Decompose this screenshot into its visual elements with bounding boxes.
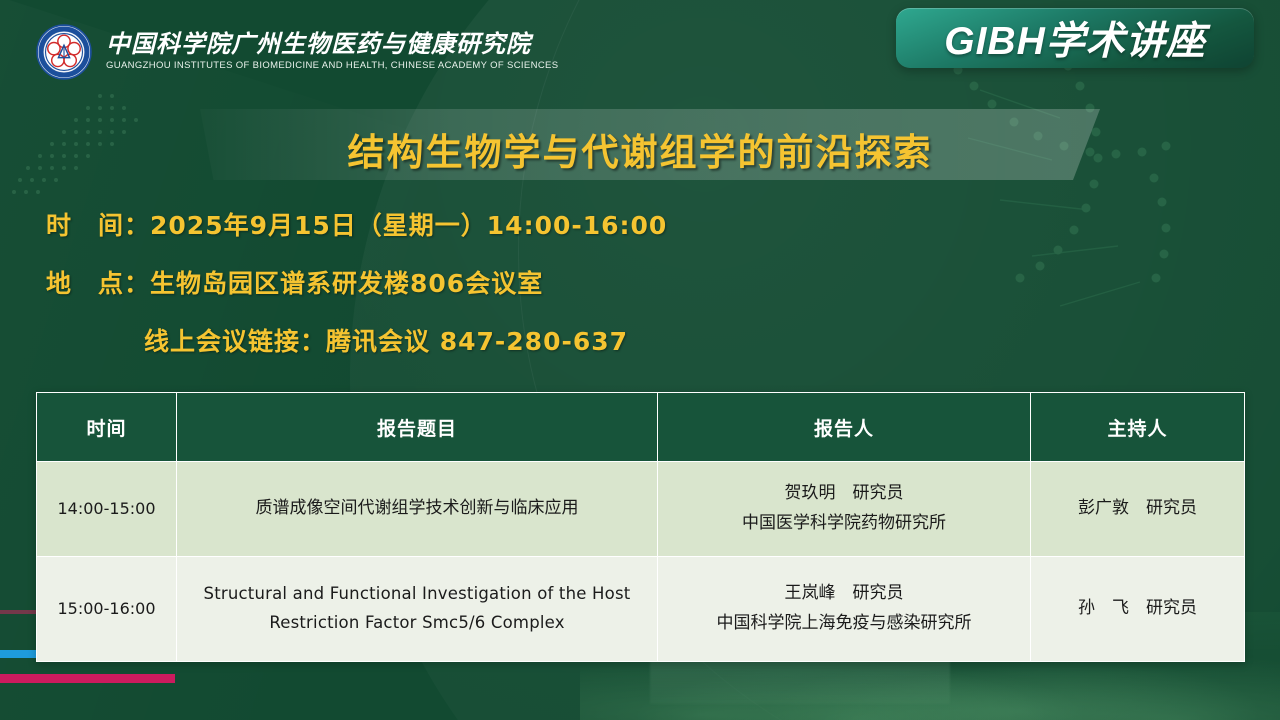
cell-speaker: 王岚峰 研究员 中国科学院上海免疫与感染研究所: [658, 557, 1031, 662]
cell-speaker-affiliation: 中国科学院上海免疫与感染研究所: [664, 609, 1024, 639]
table-row: 15:00-16:00 Structural and Functional In…: [37, 557, 1245, 662]
column-header-time: 时间: [37, 393, 177, 462]
cell-topic: 质谱成像空间代谢组学技术创新与临床应用: [177, 462, 658, 557]
cell-speaker: 贺玖明 研究员 中国医学科学院药物研究所: [658, 462, 1031, 557]
event-online-row: 线上会议链接：腾讯会议 847-280-637: [46, 322, 1146, 358]
poster-header: G I B H 中国科学院广州生物医药与健康研究院 GUANGZHOU INST…: [0, 0, 1280, 96]
cell-host: 孙 飞 研究员: [1031, 557, 1245, 662]
table-header-row: 时间 报告题目 报告人 主持人: [37, 393, 1245, 462]
event-place-value: 生物岛园区谱系研发楼806会议室: [150, 269, 543, 298]
cell-topic: Structural and Functional Investigation …: [177, 557, 658, 662]
page-title: 结构生物学与代谢组学的前沿探索: [0, 122, 1280, 176]
column-header-topic: 报告题目: [177, 393, 658, 462]
event-online-value: 腾讯会议 847-280-637: [326, 327, 628, 356]
institute-logo-block: G I B H 中国科学院广州生物医药与健康研究院 GUANGZHOU INST…: [36, 24, 558, 80]
gibh-logo-icon: G I B H: [36, 24, 92, 80]
event-time-value: 2025年9月15日（星期一）14:00-16:00: [150, 211, 667, 240]
schedule-table: 时间 报告题目 报告人 主持人 14:00-15:00 质谱成像空间代谢组学技术…: [36, 392, 1245, 662]
lecture-poster: G I B H 中国科学院广州生物医药与健康研究院 GUANGZHOU INST…: [0, 0, 1280, 720]
event-info-block: 时 间：2025年9月15日（星期一）14:00-16:00 地 点：生物岛园区…: [46, 206, 1146, 380]
column-header-host: 主持人: [1031, 393, 1245, 462]
cell-speaker-name: 王岚峰 研究员: [664, 579, 1024, 609]
column-header-speaker: 报告人: [658, 393, 1031, 462]
cell-topic-line2: Restriction Factor Smc5/6 Complex: [183, 609, 651, 638]
cell-time: 15:00-16:00: [37, 557, 177, 662]
cell-topic-line1: 质谱成像空间代谢组学技术创新与临床应用: [183, 494, 651, 524]
cell-speaker-name: 贺玖明 研究员: [664, 479, 1024, 509]
lecture-series-badge: GIBH学术讲座: [896, 8, 1254, 68]
event-place-row: 地 点：生物岛园区谱系研发楼806会议室: [46, 264, 1146, 300]
table-row: 14:00-15:00 质谱成像空间代谢组学技术创新与临床应用 贺玖明 研究员 …: [37, 462, 1245, 557]
cell-host: 彭广敦 研究员: [1031, 462, 1245, 557]
event-online-label: 线上会议链接：: [144, 322, 326, 358]
event-time-row: 时 间：2025年9月15日（星期一）14:00-16:00: [46, 206, 1146, 242]
institute-name-cn: 中国科学院广州生物医药与健康研究院: [106, 33, 558, 58]
event-place-label: 地 点：: [46, 264, 150, 300]
cell-time: 14:00-15:00: [37, 462, 177, 557]
lecture-series-badge-label: GIBH学术讲座: [944, 10, 1206, 66]
institute-name-en: GUANGZHOU INSTITUTES OF BIOMEDICINE AND …: [106, 60, 558, 71]
cell-speaker-affiliation: 中国医学科学院药物研究所: [664, 509, 1024, 539]
event-time-label: 时 间：: [46, 206, 150, 242]
cell-topic-line1: Structural and Functional Investigation …: [183, 580, 651, 609]
svg-text:G I B H: G I B H: [58, 73, 71, 78]
